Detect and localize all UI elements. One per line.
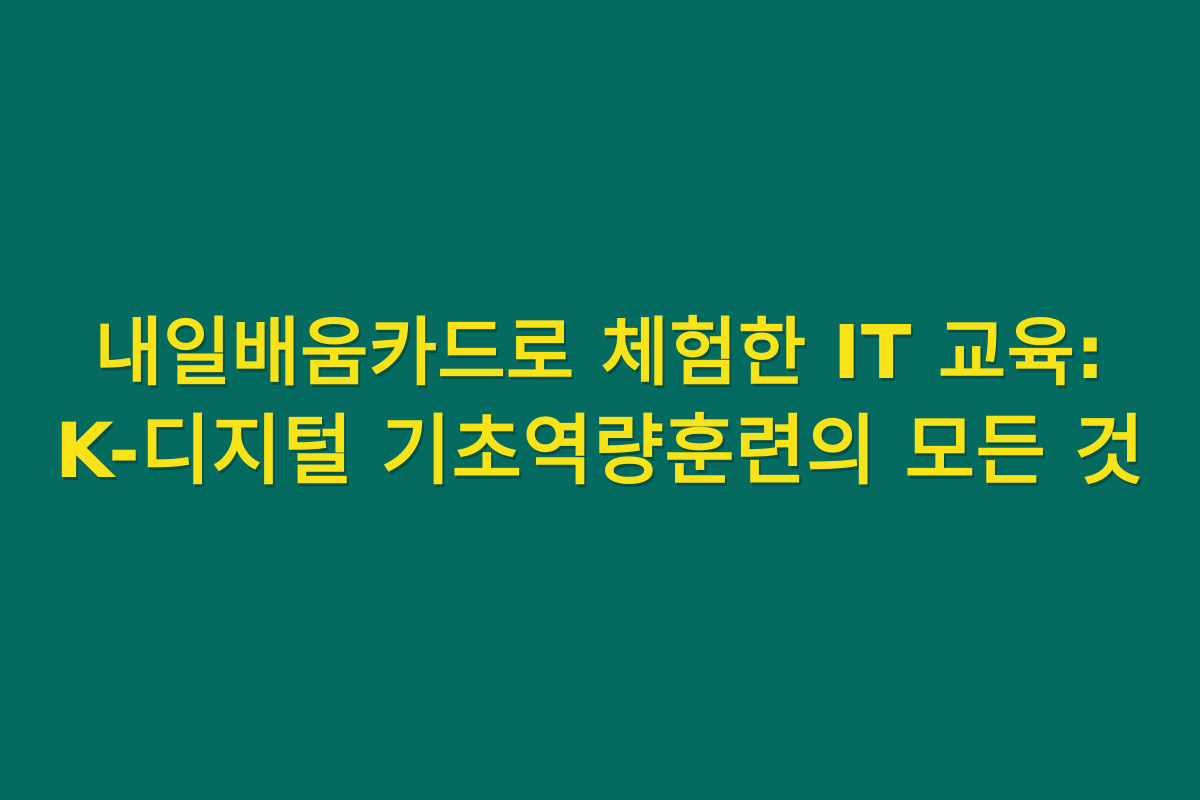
title-banner: 내일배움카드로 체험한 IT 교육: K-디지털 기초역량훈련의 모든 것 (0, 0, 1200, 800)
title-line-2: K-디지털 기초역량훈련의 모든 것 (24, 402, 1176, 500)
title-line-1: 내일배움카드로 체험한 IT 교육: (24, 304, 1176, 402)
page-title: 내일배움카드로 체험한 IT 교육: K-디지털 기초역량훈련의 모든 것 (0, 304, 1200, 500)
